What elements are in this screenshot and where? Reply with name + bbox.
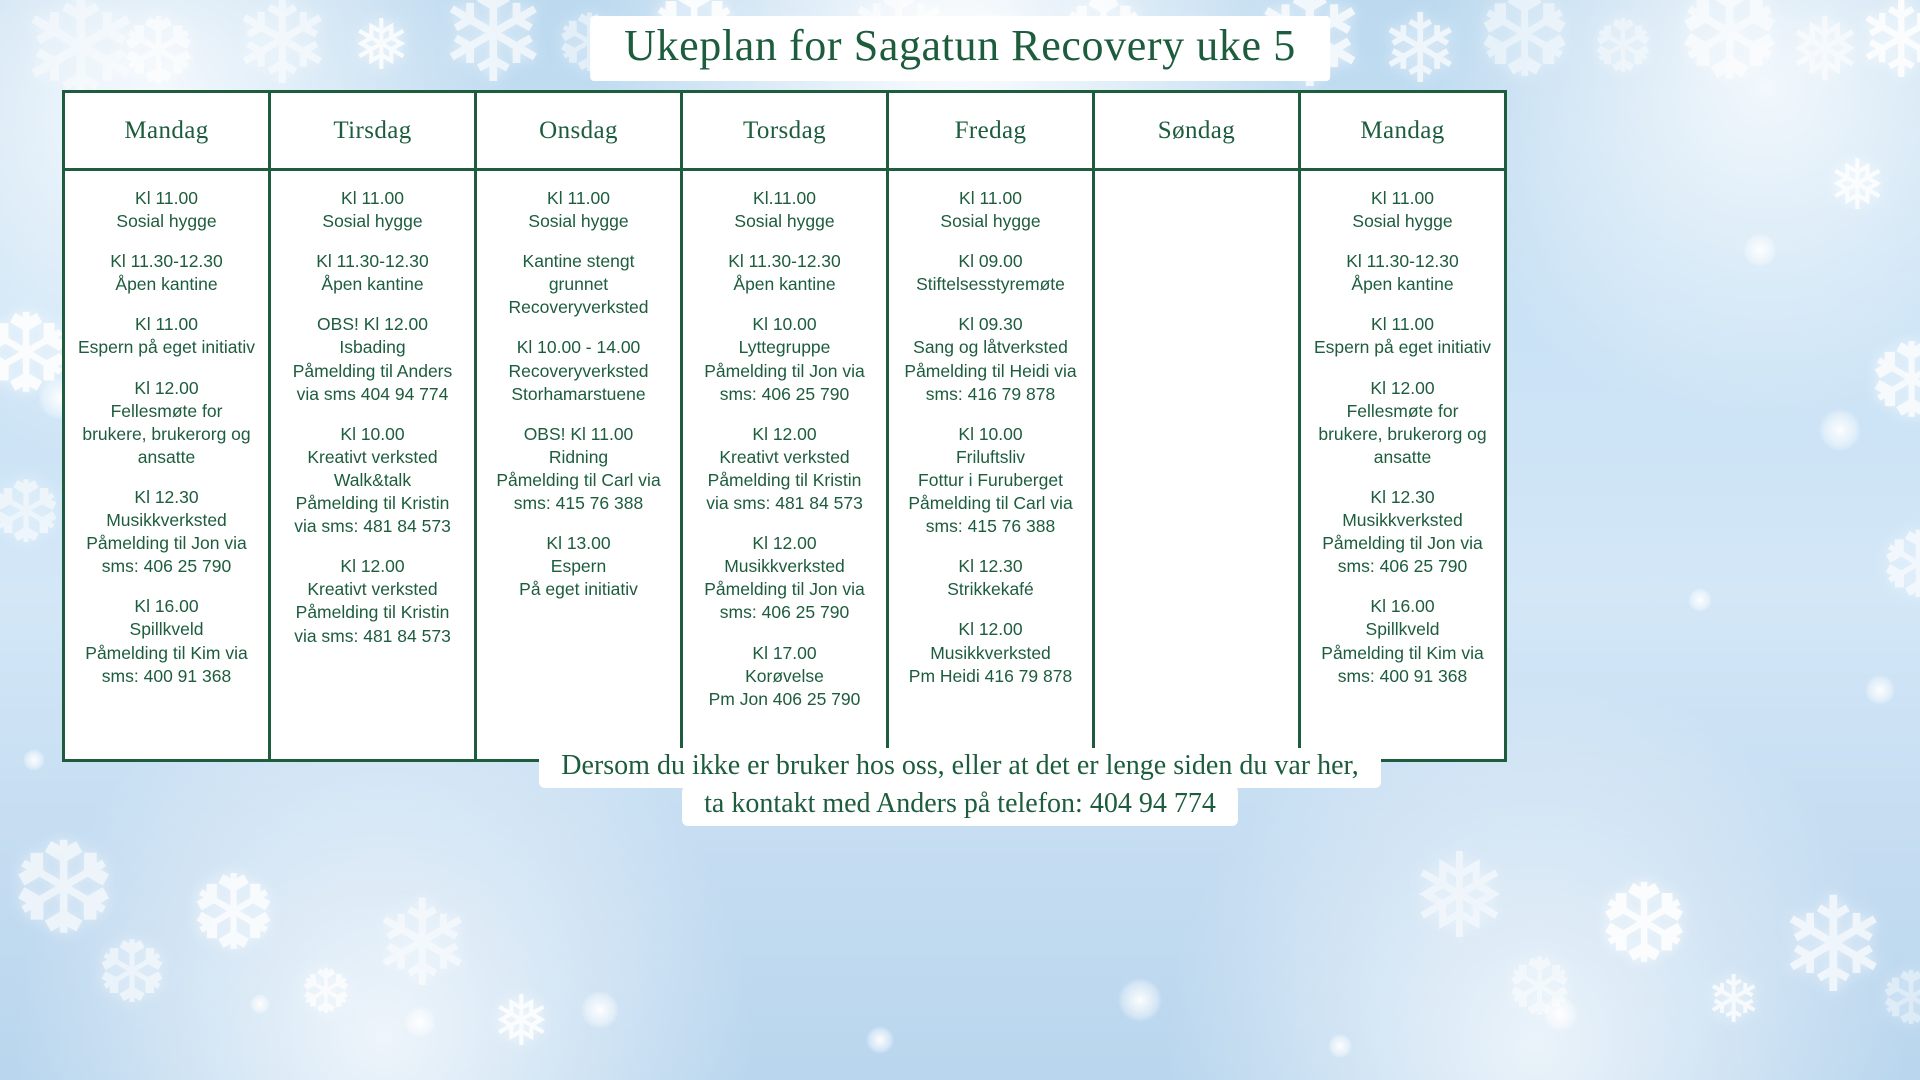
schedule-entry: Kl 16.00SpillkveldPåmelding til Kim vias… — [1307, 595, 1498, 687]
day-column-mandag-6: Kl 11.00Sosial hyggeKl 11.30-12.30Åpen k… — [1301, 171, 1504, 759]
entry-line: Ridning — [483, 446, 674, 469]
entry-line: via sms: 481 84 573 — [277, 515, 468, 538]
entry-line: sms: 406 25 790 — [689, 383, 880, 406]
entry-line: Storhamarstuene — [483, 383, 674, 406]
entry-line: Åpen kantine — [1307, 273, 1498, 296]
entry-line: Kl 11.30-12.30 — [1307, 250, 1498, 273]
schedule-entry: Kl 10.00LyttegruppePåmelding til Jon via… — [689, 313, 880, 405]
schedule-entry: Kl 09.30Sang og låtverkstedPåmelding til… — [895, 313, 1086, 405]
day-column-mandag-0: Kl 11.00Sosial hyggeKl 11.30-12.30Åpen k… — [65, 171, 271, 759]
schedule-entry: Kl 11.30-12.30Åpen kantine — [1307, 250, 1498, 296]
entry-line: Kl 12.00 — [1307, 377, 1498, 400]
entry-line: sms: 415 76 388 — [483, 492, 674, 515]
schedule-entry: Kl.11.00Sosial hygge — [689, 187, 880, 233]
entry-line: Kl 10.00 — [895, 423, 1086, 446]
entry-line: Påmelding til Jon via — [689, 578, 880, 601]
entry-line: Påmelding til Jon via — [71, 532, 262, 555]
entry-line: Spillkveld — [71, 618, 262, 641]
entry-line: Kl 11.30-12.30 — [277, 250, 468, 273]
entry-line: Kl 12.00 — [71, 377, 262, 400]
entry-line: Påmelding til Jon via — [1307, 532, 1498, 555]
entry-line: Espern — [483, 555, 674, 578]
day-header-label: Torsdag — [743, 117, 826, 145]
schedule-entry: Kl 11.00Sosial hygge — [277, 187, 468, 233]
day-header-fredag-4: Fredag — [889, 93, 1095, 168]
day-column-onsdag-2: Kl 11.00Sosial hyggeKantine stengtgrunne… — [477, 171, 683, 759]
entry-line: Musikkverksted — [689, 555, 880, 578]
entry-line: Påmelding til Heidi via — [895, 360, 1086, 383]
schedule-entry: Kl 12.00MusikkverkstedPåmelding til Jon … — [689, 532, 880, 624]
entry-line: Påmelding til Kim via — [1307, 642, 1498, 665]
entry-line: Åpen kantine — [277, 273, 468, 296]
entry-line: Musikkverksted — [895, 642, 1086, 665]
day-header-label: Tirsdag — [333, 117, 411, 145]
weekly-schedule-table: MandagTirsdagOnsdagTorsdagFredagSøndagMa… — [62, 90, 1507, 762]
entry-line: sms: 400 91 368 — [71, 665, 262, 688]
entry-line: Musikkverksted — [1307, 509, 1498, 532]
schedule-entry: Kl 10.00 - 14.00RecoveryverkstedStorhama… — [483, 336, 674, 405]
entry-line: Påmelding til Anders — [277, 360, 468, 383]
schedule-entry: OBS! Kl 12.00IsbadingPåmelding til Ander… — [277, 313, 468, 405]
entry-line: Espern på eget initiativ — [1307, 336, 1498, 359]
entry-line: Pm Heidi 416 79 878 — [895, 665, 1086, 688]
schedule-entry: Kl 12.00Fellesmøte forbrukere, brukerorg… — [1307, 377, 1498, 469]
entry-line: Stiftelsesstyremøte — [895, 273, 1086, 296]
schedule-entry: Kl 11.30-12.30Åpen kantine — [689, 250, 880, 296]
entry-line: Kl 11.00 — [483, 187, 674, 210]
entry-line: Påmelding til Kristin — [277, 601, 468, 624]
schedule-entry: Kl 12.00Fellesmøte forbrukere, brukerorg… — [71, 377, 262, 469]
day-header-label: Onsdag — [539, 117, 618, 145]
entry-line: Fellesmøte for — [71, 400, 262, 423]
entry-line: Kl 12.00 — [689, 532, 880, 555]
schedule-entry: Kl 12.00Kreativt verkstedPåmelding til K… — [277, 555, 468, 647]
table-body-row: Kl 11.00Sosial hyggeKl 11.30-12.30Åpen k… — [65, 171, 1504, 759]
schedule-entry: Kl 09.00Stiftelsesstyremøte — [895, 250, 1086, 296]
entry-line: Kl 16.00 — [71, 595, 262, 618]
schedule-entry: Kl 11.00Sosial hygge — [1307, 187, 1498, 233]
entry-line: sms: 415 76 388 — [895, 515, 1086, 538]
entry-line: Kl 11.00 — [1307, 313, 1498, 336]
day-header-label: Mandag — [1360, 117, 1444, 145]
entry-line: Kl 12.00 — [895, 618, 1086, 641]
entry-line: Sosial hygge — [1307, 210, 1498, 233]
entry-line: sms: 406 25 790 — [1307, 555, 1498, 578]
footer-note: Dersom du ikke er bruker hos oss, eller … — [0, 748, 1920, 826]
schedule-entry: Kl 10.00FriluftslivFottur i FurubergetPå… — [895, 423, 1086, 538]
entry-line: Isbading — [277, 336, 468, 359]
schedule-entry: Kl 17.00KorøvelsePm Jon 406 25 790 — [689, 642, 880, 711]
entry-line: Kl 16.00 — [1307, 595, 1498, 618]
day-header-mandag-0: Mandag — [65, 93, 271, 168]
day-column-tirsdag-1: Kl 11.00Sosial hyggeKl 11.30-12.30Åpen k… — [271, 171, 477, 759]
entry-line: brukere, brukerorg og — [71, 423, 262, 446]
entry-line: Kl 09.30 — [895, 313, 1086, 336]
entry-line: Lyttegruppe — [689, 336, 880, 359]
entry-line: Sosial hygge — [71, 210, 262, 233]
day-header-tirsdag-1: Tirsdag — [271, 93, 477, 168]
entry-line: Påmelding til Kristin — [277, 492, 468, 515]
entry-line: Kreativt verksted — [277, 578, 468, 601]
entry-line: Påmelding til Carl via — [895, 492, 1086, 515]
entry-line: Fottur i Furuberget — [895, 469, 1086, 492]
entry-line: Påmelding til Jon via — [689, 360, 880, 383]
entry-line: Spillkveld — [1307, 618, 1498, 641]
entry-line: Kl 11.00 — [71, 187, 262, 210]
entry-line: Kl 11.00 — [71, 313, 262, 336]
schedule-entry: Kl 13.00EspernPå eget initiativ — [483, 532, 674, 601]
entry-line: sms: 406 25 790 — [689, 601, 880, 624]
schedule-entry: Kl 11.00Espern på eget initiativ — [1307, 313, 1498, 359]
entry-line: Kl 09.00 — [895, 250, 1086, 273]
entry-line: brukere, brukerorg og — [1307, 423, 1498, 446]
day-header-label: Fredag — [955, 117, 1027, 145]
entry-line: Påmelding til Carl via — [483, 469, 674, 492]
schedule-entry: Kl 12.00Kreativt verkstedPåmelding til K… — [689, 423, 880, 515]
entry-line: Kl.11.00 — [689, 187, 880, 210]
schedule-entry: Kl 11.30-12.30Åpen kantine — [71, 250, 262, 296]
day-column-fredag-4: Kl 11.00Sosial hyggeKl 09.00Stiftelsesst… — [889, 171, 1095, 759]
entry-line: Påmelding til Kristin — [689, 469, 880, 492]
entry-line: Kl 11.00 — [895, 187, 1086, 210]
entry-line: Kreativt verksted — [277, 446, 468, 469]
entry-line: via sms: 481 84 573 — [689, 492, 880, 515]
entry-line: Kl 12.00 — [689, 423, 880, 446]
day-column-søndag-5 — [1095, 171, 1301, 759]
entry-line: Kl 12.00 — [277, 555, 468, 578]
schedule-entry: Kl 10.00Kreativt verkstedWalk&talkPåmeld… — [277, 423, 468, 538]
entry-line: Kl 11.30-12.30 — [689, 250, 880, 273]
entry-line: Kl 12.30 — [1307, 486, 1498, 509]
day-header-søndag-5: Søndag — [1095, 93, 1301, 168]
schedule-entry: Kl 16.00SpillkveldPåmelding til Kim vias… — [71, 595, 262, 687]
day-header-mandag-6: Mandag — [1301, 93, 1504, 168]
entry-line: grunnet — [483, 273, 674, 296]
entry-line: Sosial hygge — [689, 210, 880, 233]
entry-line: sms: 416 79 878 — [895, 383, 1086, 406]
entry-line: ansatte — [71, 446, 262, 469]
entry-line: Kantine stengt — [483, 250, 674, 273]
table-header-row: MandagTirsdagOnsdagTorsdagFredagSøndagMa… — [65, 93, 1504, 171]
footer-line-2: ta kontakt med Anders på telefon: 404 94… — [682, 786, 1238, 826]
schedule-entry: Kantine stengtgrunnetRecoveryverksted — [483, 250, 674, 319]
schedule-entry: Kl 11.00Sosial hygge — [483, 187, 674, 233]
entry-line: Åpen kantine — [689, 273, 880, 296]
entry-line: Kl 11.00 — [277, 187, 468, 210]
entry-line: Strikkekafé — [895, 578, 1086, 601]
entry-line: Kl 11.30-12.30 — [71, 250, 262, 273]
entry-line: Kl 11.00 — [1307, 187, 1498, 210]
schedule-entry: Kl 12.30MusikkverkstedPåmelding til Jon … — [71, 486, 262, 578]
schedule-entry: Kl 12.30Strikkekafé — [895, 555, 1086, 601]
entry-line: På eget initiativ — [483, 578, 674, 601]
entry-line: Pm Jon 406 25 790 — [689, 688, 880, 711]
entry-line: OBS! Kl 11.00 — [483, 423, 674, 446]
schedule-entry: Kl 11.00Espern på eget initiativ — [71, 313, 262, 359]
entry-line: Kl 10.00 — [277, 423, 468, 446]
entry-line: Kl 12.30 — [71, 486, 262, 509]
entry-line: via sms: 481 84 573 — [277, 625, 468, 648]
day-column-torsdag-3: Kl.11.00Sosial hyggeKl 11.30-12.30Åpen k… — [683, 171, 889, 759]
entry-line: Kl 10.00 — [689, 313, 880, 336]
entry-line: Fellesmøte for — [1307, 400, 1498, 423]
entry-line: Friluftsliv — [895, 446, 1086, 469]
entry-line: sms: 406 25 790 — [71, 555, 262, 578]
entry-line: Sosial hygge — [483, 210, 674, 233]
entry-line: OBS! Kl 12.00 — [277, 313, 468, 336]
page-title: Ukeplan for Sagatun Recovery uke 5 — [624, 20, 1296, 71]
day-header-torsdag-3: Torsdag — [683, 93, 889, 168]
entry-line: Sosial hygge — [277, 210, 468, 233]
schedule-entry: Kl 12.00MusikkverkstedPm Heidi 416 79 87… — [895, 618, 1086, 687]
schedule-entry: Kl 11.00Sosial hygge — [71, 187, 262, 233]
entry-line: Korøvelse — [689, 665, 880, 688]
schedule-entry: Kl 11.30-12.30Åpen kantine — [277, 250, 468, 296]
entry-line: via sms 404 94 774 — [277, 383, 468, 406]
entry-line: Espern på eget initiativ — [71, 336, 262, 359]
entry-line: Kl 12.30 — [895, 555, 1086, 578]
schedule-entry: OBS! Kl 11.00RidningPåmelding til Carl v… — [483, 423, 674, 515]
entry-line: Recoveryverksted — [483, 360, 674, 383]
footer-line-1: Dersom du ikke er bruker hos oss, eller … — [539, 748, 1380, 788]
entry-line: Kreativt verksted — [689, 446, 880, 469]
title-plate: Ukeplan for Sagatun Recovery uke 5 — [590, 16, 1330, 81]
day-header-onsdag-2: Onsdag — [477, 93, 683, 168]
schedule-entry: Kl 11.00Sosial hygge — [895, 187, 1086, 233]
day-header-label: Mandag — [124, 117, 208, 145]
entry-line: Recoveryverksted — [483, 296, 674, 319]
entry-line: Åpen kantine — [71, 273, 262, 296]
day-header-label: Søndag — [1158, 117, 1235, 145]
entry-line: Musikkverksted — [71, 509, 262, 532]
entry-line: Sosial hygge — [895, 210, 1086, 233]
entry-line: Walk&talk — [277, 469, 468, 492]
entry-line: Sang og låtverksted — [895, 336, 1086, 359]
entry-line: Påmelding til Kim via — [71, 642, 262, 665]
entry-line: Kl 17.00 — [689, 642, 880, 665]
entry-line: Kl 10.00 - 14.00 — [483, 336, 674, 359]
schedule-entry: Kl 12.30MusikkverkstedPåmelding til Jon … — [1307, 486, 1498, 578]
entry-line: ansatte — [1307, 446, 1498, 469]
entry-line: Kl 13.00 — [483, 532, 674, 555]
entry-line: sms: 400 91 368 — [1307, 665, 1498, 688]
